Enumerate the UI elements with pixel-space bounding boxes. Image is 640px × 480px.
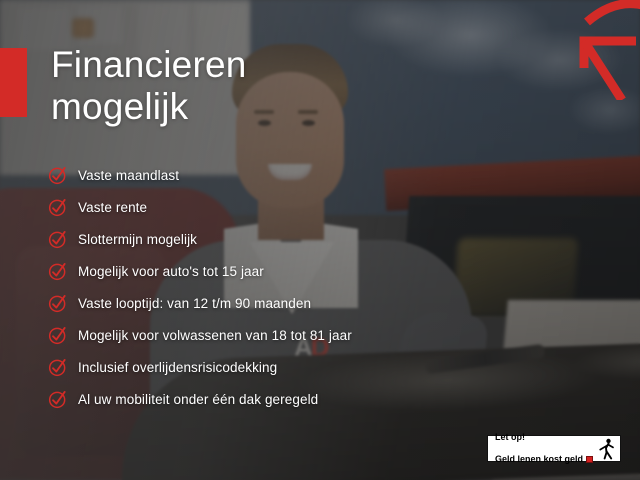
page-title: Financieren mogelijk <box>51 44 247 128</box>
check-circle-icon <box>48 293 68 313</box>
list-item: Al uw mobiliteit onder één dak geregeld <box>48 383 352 415</box>
check-circle-icon <box>48 197 68 217</box>
check-circle-icon <box>48 325 68 345</box>
credit-warning-line2-row: Geld lenen kost geld <box>495 454 596 465</box>
feature-label: Slottermijn mogelijk <box>78 232 197 247</box>
feature-label: Mogelijk voor auto's tot 15 jaar <box>78 264 264 279</box>
check-circle-icon <box>48 261 68 281</box>
feature-label: Mogelijk voor volwassenen van 18 tot 81 … <box>78 328 352 343</box>
list-item: Mogelijk voor volwassenen van 18 tot 81 … <box>48 319 352 351</box>
feature-label: Inclusief overlijdensrisicodekking <box>78 360 277 375</box>
man-pulling-block-icon <box>596 438 616 460</box>
credit-warning-text: Let op! Geld lenen kost geld <box>495 421 596 476</box>
check-circle-icon <box>48 357 68 377</box>
list-item: Vaste looptijd: van 12 t/m 90 maanden <box>48 287 352 319</box>
check-circle-icon <box>48 389 68 409</box>
red-accent-block <box>0 48 27 117</box>
list-item: Inclusief overlijdensrisicodekking <box>48 351 352 383</box>
check-circle-icon <box>48 165 68 185</box>
check-circle-icon <box>48 229 68 249</box>
credit-warning-line2: Geld lenen kost geld <box>495 454 583 465</box>
credit-warning-badge: Let op! Geld lenen kost geld <box>487 435 621 462</box>
credit-warning-line1: Let op! <box>495 432 596 443</box>
list-item: Vaste rente <box>48 191 352 223</box>
list-item: Slottermijn mogelijk <box>48 223 352 255</box>
list-item: Vaste maandlast <box>48 159 352 191</box>
brand-corner-mark-icon <box>550 0 640 100</box>
financing-banner: AD Financieren mogelijk Vaste maandlast <box>0 0 640 480</box>
feature-label: Al uw mobiliteit onder één dak geregeld <box>78 392 318 407</box>
list-item: Mogelijk voor auto's tot 15 jaar <box>48 255 352 287</box>
feature-label: Vaste rente <box>78 200 147 215</box>
feature-list: Vaste maandlast Vaste rente Slottermijn … <box>48 159 352 415</box>
feature-label: Vaste looptijd: van 12 t/m 90 maanden <box>78 296 311 311</box>
red-block-icon <box>586 456 593 463</box>
feature-label: Vaste maandlast <box>78 168 179 183</box>
